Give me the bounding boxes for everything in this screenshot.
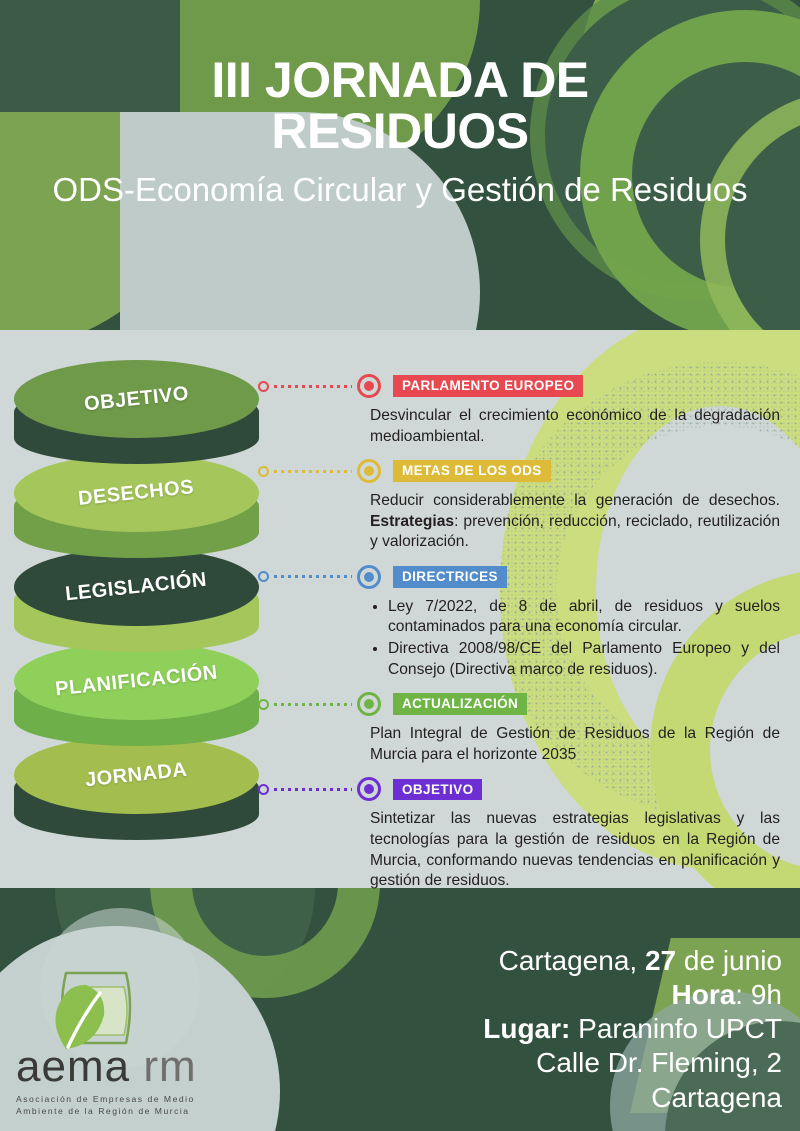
connector-target-dot-icon xyxy=(357,459,381,483)
logo-tagline-line1: Asociación de Empresas de Medio xyxy=(16,1093,241,1105)
content-item-badge[interactable]: METAS DE LOS ODS xyxy=(393,460,551,482)
content-item-header: OBJETIVO xyxy=(258,775,788,803)
content-item-badge[interactable]: PARLAMENTO EUROPEO xyxy=(393,375,583,397)
logo-tagline: Asociación de Empresas de Medio Ambiente… xyxy=(16,1093,241,1117)
event-time-label: Hora xyxy=(672,979,736,1010)
content-item-header: DIRECTRICES xyxy=(258,563,788,591)
connector-small-dot-icon xyxy=(258,381,269,392)
cylinder-stack: OBJETIVODESECHOSLEGISLACIÓNPLANIFICACIÓN… xyxy=(14,360,264,830)
event-month: de junio xyxy=(676,945,782,976)
aema-logo: aema rm Asociación de Empresas de Medio … xyxy=(8,965,238,1125)
content-item-body: Sintetizar las nuevas estrategias legisl… xyxy=(370,809,780,891)
connector-small-dot-icon xyxy=(258,466,269,477)
connector-dotted-line xyxy=(274,575,352,578)
content-item-list: PARLAMENTO EUROPEODesvincular el crecimi… xyxy=(258,372,788,902)
event-time-value: : 9h xyxy=(735,979,782,1010)
content-item: ACTUALIZACIÓNPlan Integral de Gestión de… xyxy=(258,690,788,765)
content-item-badge[interactable]: ACTUALIZACIÓN xyxy=(393,693,527,715)
logo-name: aema rm xyxy=(16,1045,241,1089)
event-date-line: Cartagena, 27 de junio xyxy=(322,944,782,978)
content-item: OBJETIVOSintetizar las nuevas estrategia… xyxy=(258,775,788,891)
header-text-group: III JORNADA DE RESIDUOS ODS-Economía Cir… xyxy=(0,0,800,330)
content-item-header: METAS DE LOS ODS xyxy=(258,457,788,485)
event-place-line: Lugar: Paraninfo UPCT xyxy=(322,1012,782,1046)
connector-dotted-line xyxy=(274,788,352,791)
connector-small-dot-icon xyxy=(258,571,269,582)
logo-name-aema: aema xyxy=(16,1042,130,1091)
content-item: PARLAMENTO EUROPEODesvincular el crecimi… xyxy=(258,372,788,447)
page-subtitle: ODS-Economía Circular y Gestión de Resid… xyxy=(52,171,747,209)
content-item-body: Reducir considerablemente la generación … xyxy=(370,491,780,553)
content-item-body: Desvincular el crecimiento económico de … xyxy=(370,406,780,447)
event-place-value: Paraninfo UPCT xyxy=(570,1013,782,1044)
content-item-header: ACTUALIZACIÓN xyxy=(258,690,788,718)
connector-target-dot-icon xyxy=(357,565,381,589)
event-details: Cartagena, 27 de junio Hora: 9h Lugar: P… xyxy=(322,944,782,1115)
content-item-header: PARLAMENTO EUROPEO xyxy=(258,372,788,400)
poster-root: III JORNADA DE RESIDUOS ODS-Economía Cir… xyxy=(0,0,800,1131)
connector-dotted-line xyxy=(274,385,352,388)
event-place-label: Lugar: xyxy=(483,1013,570,1044)
content-item-body: Ley 7/2022, de 8 de abril, de residuos y… xyxy=(370,597,780,680)
content-item-badge[interactable]: DIRECTRICES xyxy=(393,566,507,588)
connector-small-dot-icon xyxy=(258,699,269,710)
connector-small-dot-icon xyxy=(258,784,269,795)
stack-item-objetivo[interactable]: OBJETIVO xyxy=(14,360,259,472)
content-item-bullet-list: Ley 7/2022, de 8 de abril, de residuos y… xyxy=(370,597,780,680)
event-city-line: Cartagena xyxy=(322,1081,782,1115)
content-item-bullet: Ley 7/2022, de 8 de abril, de residuos y… xyxy=(388,597,780,638)
content-item-badge[interactable]: OBJETIVO xyxy=(393,779,482,801)
connector-dotted-line xyxy=(274,703,352,706)
content-item-bullet: Directiva 2008/98/CE del Parlamento Euro… xyxy=(388,639,780,680)
event-city-label: Cartagena, xyxy=(499,945,645,976)
connector-target-dot-icon xyxy=(357,374,381,398)
page-title: III JORNADA DE RESIDUOS xyxy=(80,55,720,157)
event-day: 27 xyxy=(645,945,676,976)
logo-name-rm: rm xyxy=(143,1042,196,1091)
content-item-body: Plan Integral de Gestión de Residuos de … xyxy=(370,724,780,765)
logo-tagline-line2: Ambiente de la Región de Murcia xyxy=(16,1105,241,1117)
content-item: DIRECTRICESLey 7/2022, de 8 de abril, de… xyxy=(258,563,788,680)
connector-target-dot-icon xyxy=(357,777,381,801)
connector-target-dot-icon xyxy=(357,692,381,716)
event-address-line: Calle Dr. Fleming, 2 xyxy=(322,1046,782,1080)
connector-dotted-line xyxy=(274,470,352,473)
stack-item-label: OBJETIVO xyxy=(14,360,259,438)
logo-wordmark: aema rm Asociación de Empresas de Medio … xyxy=(16,1045,241,1117)
content-item: METAS DE LOS ODSReducir considerablement… xyxy=(258,457,788,553)
header-banner: III JORNADA DE RESIDUOS ODS-Economía Cir… xyxy=(0,0,800,330)
event-time-line: Hora: 9h xyxy=(322,978,782,1012)
